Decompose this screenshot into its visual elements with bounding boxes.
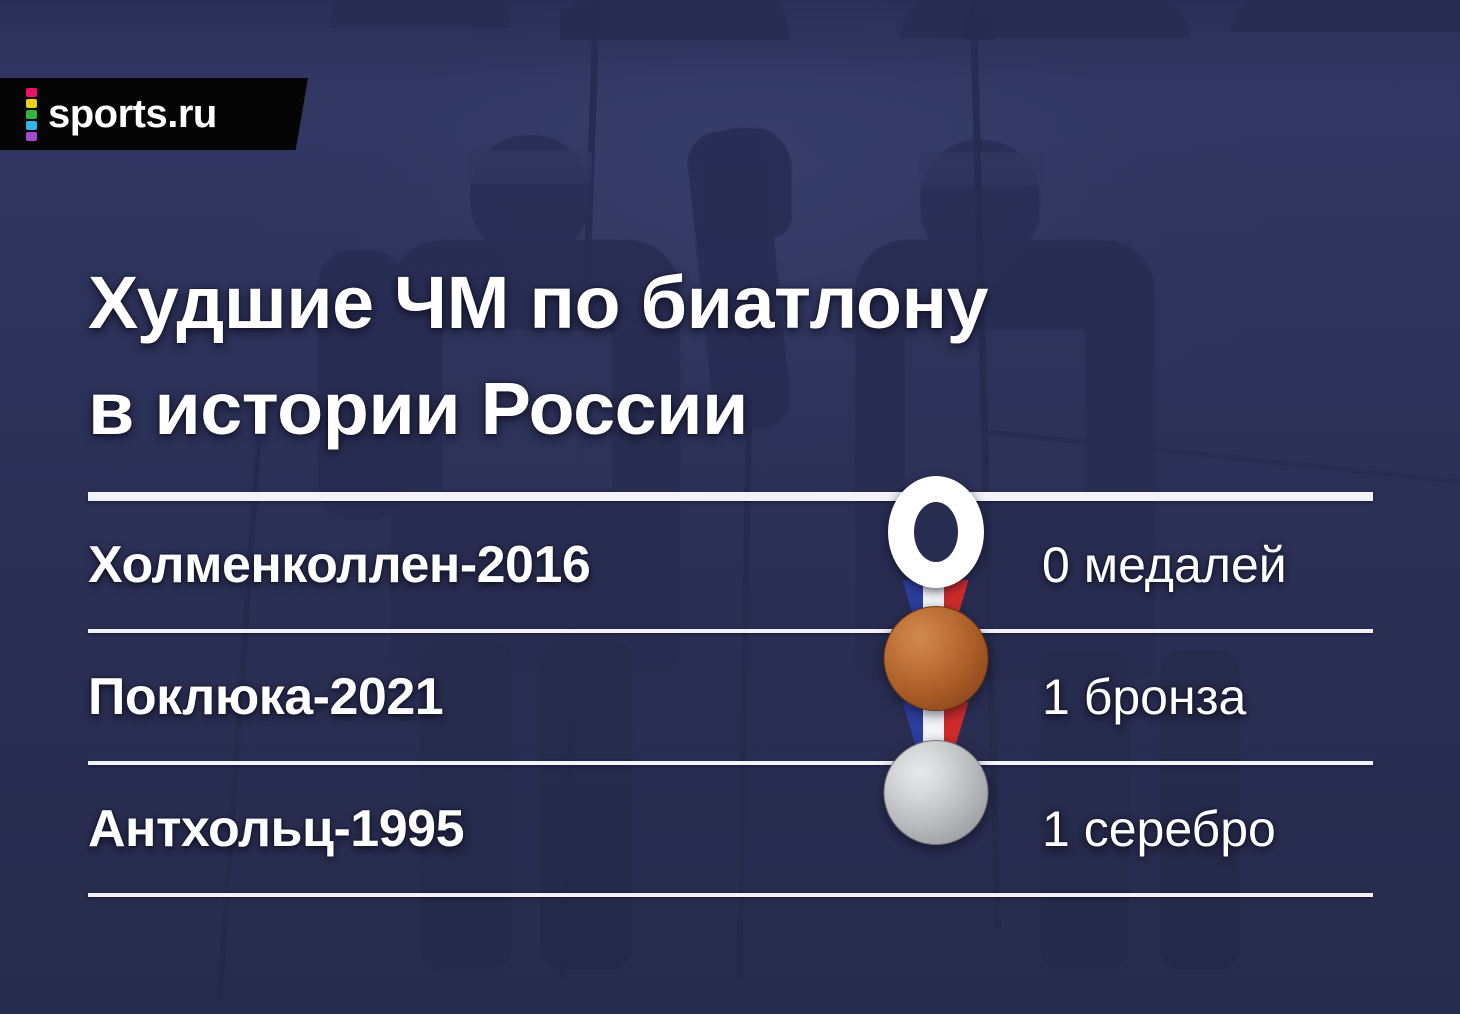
logo-wordmark: sports.ru <box>48 92 217 137</box>
logo-dot-1 <box>26 88 37 97</box>
row-medal-count: 1 серебро <box>1038 800 1373 858</box>
table-row: Антхольц-1995 1 серебро <box>88 765 1373 893</box>
table-row: Поклюка-2021 1 бронза <box>88 633 1373 761</box>
silver-medal-icon <box>861 734 1011 924</box>
logo-dot-4 <box>26 121 37 130</box>
page-title-line-2: в истории России <box>88 372 1292 446</box>
row-place-label: Антхольц-1995 <box>88 799 833 859</box>
worst-championships-table: Холменколлен-2016 0 медалей Поклюка-2021… <box>88 492 1373 897</box>
table-top-divider <box>88 492 1373 501</box>
row-place-label: Холменколлен-2016 <box>88 535 833 595</box>
bronze-disc-icon <box>883 606 988 711</box>
table-row: Холменколлен-2016 0 медалей <box>88 501 1373 629</box>
logo-dot-3 <box>26 110 37 119</box>
logo-dots-icon <box>26 88 37 141</box>
logo-dot-2 <box>26 99 37 108</box>
zero-glyph-icon <box>888 476 984 588</box>
row-medal-count: 1 бронза <box>1038 668 1373 726</box>
page-title: Худшие ЧМ по биатлону в истории России <box>88 266 1292 446</box>
row-medal-cell <box>833 765 1038 893</box>
table-bottom-divider <box>88 893 1373 897</box>
silver-disc-icon <box>883 740 988 845</box>
sports-ru-logo[interactable]: sports.ru <box>0 78 308 150</box>
page-title-line-1: Худшие ЧМ по биатлону <box>88 261 988 344</box>
row-medal-count: 0 медалей <box>1038 536 1373 594</box>
row-place-label: Поклюка-2021 <box>88 667 833 727</box>
logo-dot-5 <box>26 132 37 141</box>
infographic-poster: sports.ru Худшие ЧМ по биатлону в истори… <box>0 0 1460 1014</box>
